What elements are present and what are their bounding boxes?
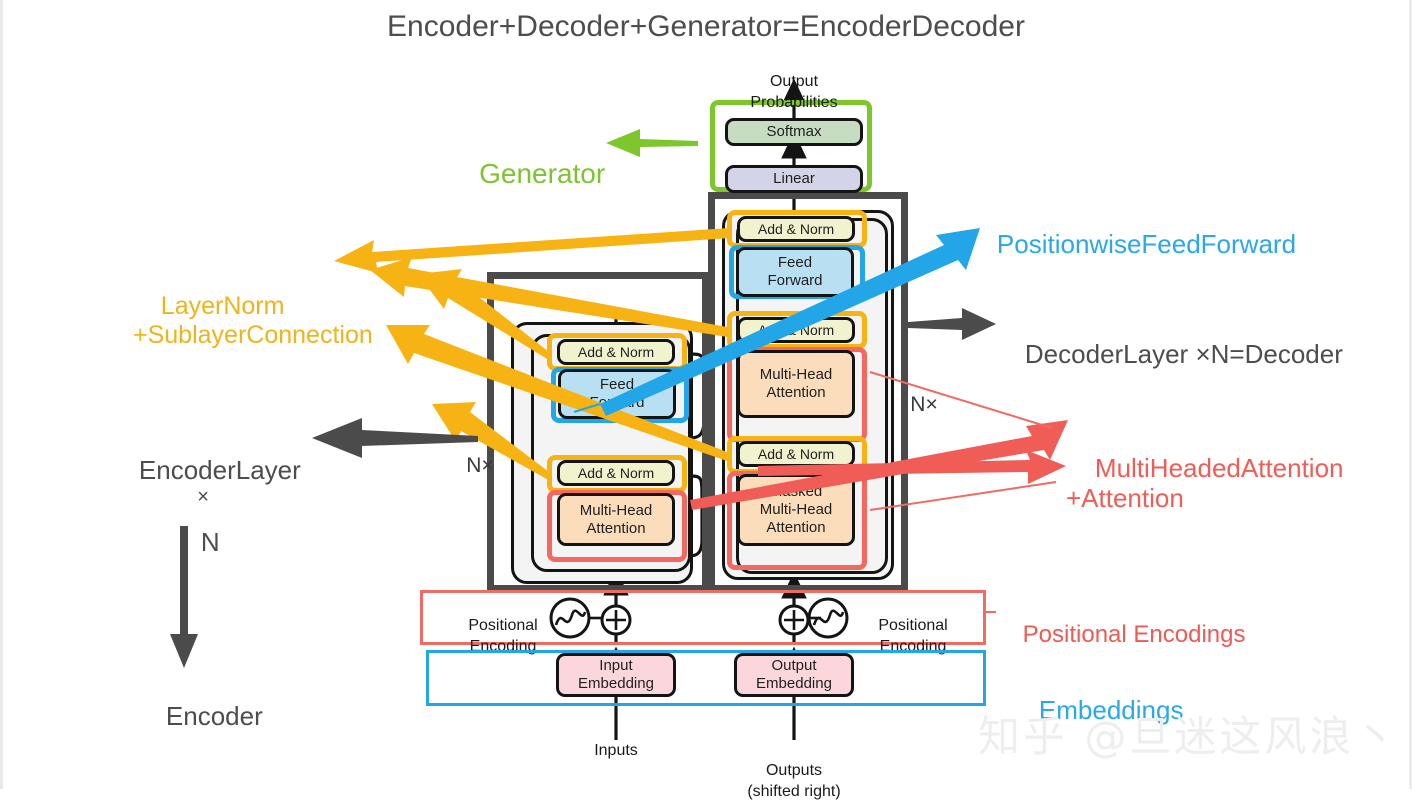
multiheaded-attention-arrows	[690, 420, 1068, 510]
diagram-canvas: Encoder+Decoder+Generator=EncoderDecoder	[0, 0, 1412, 789]
generator-arrow	[606, 129, 698, 157]
encoder-down-arrow	[170, 526, 198, 668]
annotation-arrow-layer	[0, 0, 1412, 789]
decoder-layer-arrow	[908, 308, 996, 340]
